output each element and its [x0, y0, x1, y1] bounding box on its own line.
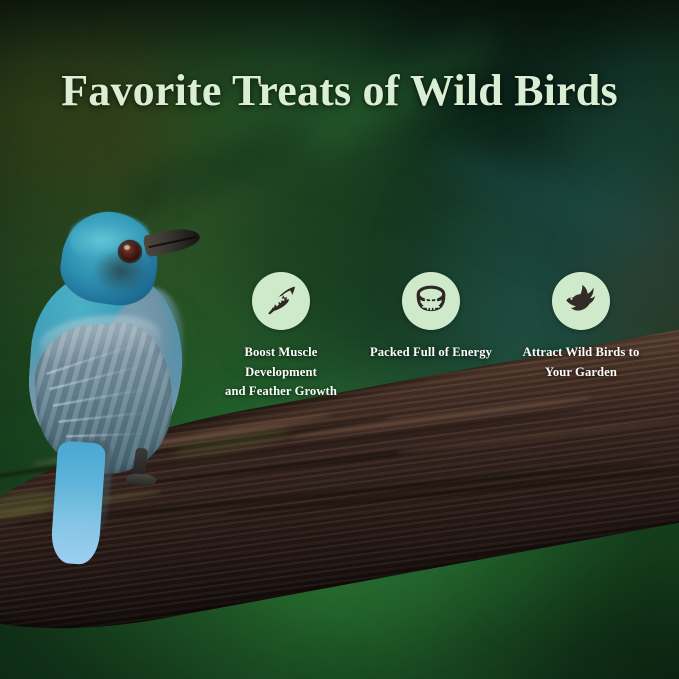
- bark-highlight: [397, 416, 679, 455]
- bark-streak: [226, 463, 679, 516]
- page-title: Favorite Treats of Wild Birds: [0, 68, 679, 114]
- feather-badge: [252, 272, 310, 330]
- feature-label-line: Packed Full of Energy: [370, 343, 492, 363]
- suet-basket-icon: [414, 284, 448, 318]
- flying-bird-icon: [563, 283, 599, 319]
- flying-bird-badge: [552, 272, 610, 330]
- feature-item-boost-muscle: Boost Muscle Development and Feather Gro…: [206, 272, 356, 402]
- bird-foot: [126, 473, 157, 487]
- feature-label: Attract Wild Birds to Your Garden: [523, 343, 640, 382]
- bird-eye-glint: [124, 245, 130, 250]
- feature-item-attract-birds: Attract Wild Birds to Your Garden: [506, 272, 656, 382]
- bird-eye: [120, 242, 140, 261]
- feature-label: Packed Full of Energy: [370, 343, 492, 363]
- feature-label-line: Boost Muscle: [225, 343, 337, 363]
- feature-label-line: Development: [225, 363, 337, 383]
- feature-list: Boost Muscle Development and Feather Gro…: [206, 272, 656, 402]
- feature-label: Boost Muscle Development and Feather Gro…: [225, 343, 337, 402]
- blue-bird-photo: [14, 212, 204, 512]
- suet-basket-badge: [402, 272, 460, 330]
- feature-label-line: Your Garden: [523, 363, 640, 383]
- feature-label-line: and Feather Growth: [225, 382, 337, 402]
- product-feature-banner: Favorite Treats of Wild Birds Boost Musc…: [0, 0, 679, 679]
- feather-icon: [264, 284, 298, 318]
- feature-label-line: Attract Wild Birds to: [523, 343, 640, 363]
- feature-item-packed-energy: Packed Full of Energy: [356, 272, 506, 363]
